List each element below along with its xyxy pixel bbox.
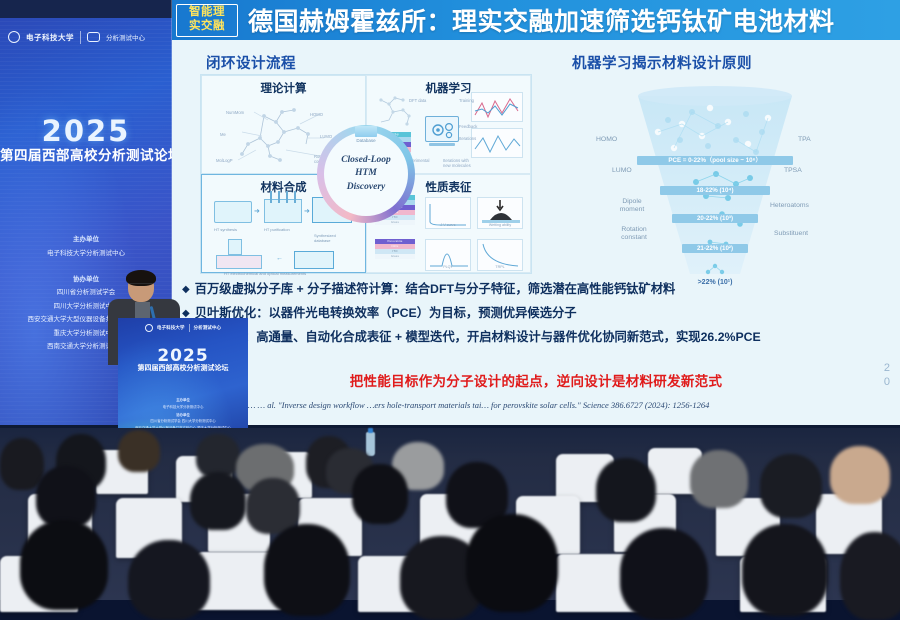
audience-person — [264, 524, 350, 616]
audience-person — [0, 438, 44, 490]
iteration-curve-icon — [472, 129, 524, 159]
bullet-item-1: ◆ 百万级虚拟分子库 + 分子描述符计算：结合DFT与分子特征，筛选潜在高性能钙… — [182, 282, 888, 297]
podium-logo-divider — [189, 324, 190, 332]
funnel-label-dipole-moment: Dipole moment — [612, 198, 652, 215]
arrow-measurement-flow: ← — [276, 255, 283, 262]
audience-person — [352, 464, 408, 524]
well-plate — [216, 255, 262, 269]
badge-line-2: 实交融 — [189, 20, 225, 34]
bullet-diamond-icon-1: ◆ — [182, 282, 190, 297]
purification-tube-2 — [278, 191, 280, 203]
funnel-label-rotation-constant: Rotation constant — [612, 226, 656, 243]
audience-person — [840, 532, 900, 620]
ml-model-icon — [425, 116, 459, 142]
banner-logo-university: 电子科技大学 — [26, 32, 74, 43]
loop-line-2: HTM — [341, 167, 391, 180]
funnel-band-18-22: 18-22% (10⁴) — [660, 186, 770, 195]
heading-ml-design-principles: 机器学习揭示材料设计原则 — [572, 52, 752, 73]
funnel-label-substituent: Substituent — [774, 230, 808, 238]
host-heading: 主办单位 — [0, 233, 172, 243]
gear-neural-icon — [426, 117, 460, 143]
banner-forum-name: 第四届西部高校分析测试论坛 — [0, 144, 172, 164]
caption-synthesized-database: Synthesized database — [314, 233, 346, 243]
audience-person — [128, 540, 210, 620]
ml-training-plot — [471, 92, 523, 122]
purification-tube-4 — [294, 191, 296, 203]
training-curve-icon — [472, 93, 524, 123]
ml-label-training: Training — [459, 98, 474, 103]
slide-citation: …nch… … al. "Inverse design workflow …er… — [228, 400, 872, 410]
conference-room-scene: 电子科技大学 分析测试中心 2025 第四届西部高校分析测试论坛 主办单位 电子… — [0, 0, 900, 600]
banner-logo-center: 分析测试中心 — [106, 32, 145, 42]
slide-title: 德国赫姆霍兹所：理实交融加速筛选钙钛矿电池材料 — [248, 2, 835, 38]
closed-loop-ring: Database Closed-Loop HTM Discovery — [317, 125, 415, 223]
slide-topic-badge: 智能理 实交融 — [176, 4, 238, 37]
arrow-purification-to-database: ➜ — [304, 207, 310, 215]
loop-line-1: Closed-Loop — [341, 154, 391, 167]
caption-ht-measurements: HT electrochemical and optical measureme… — [224, 271, 306, 276]
bullet-text-1: 百万级虚拟分子库 + 分子描述符计算：结合DFT与分子特征，筛选潜在高性能钙钛矿… — [195, 282, 676, 297]
jv-curve-plot: J-V curve — [425, 197, 471, 229]
closed-loop-text: Closed-Loop HTM Discovery — [341, 154, 391, 193]
audience-area — [0, 428, 900, 600]
ml-label-feedback: Feedback — [459, 124, 477, 129]
slide-page-number: 2 0 — [884, 362, 890, 390]
theory-label-mollogp: MolLogP — [216, 158, 233, 163]
funnel-label-homo: HOMO — [596, 136, 617, 144]
ml-model-base — [429, 143, 455, 146]
podium-logo-center: 分析测试中心 — [194, 325, 222, 331]
podium-university-seal-icon — [145, 324, 153, 332]
ml-iteration-plot — [471, 128, 523, 158]
projection-screen: 智能理 实交融 德国赫姆霍兹所：理实交融加速筛选钙钛矿电池材料 闭环设计流程 机… — [172, 0, 900, 425]
banner-year: 2025 — [0, 114, 172, 148]
banner-logo-row: 电子科技大学 分析测试中心 — [8, 28, 164, 46]
slide-header-bar: 智能理 实交融 德国赫姆霍兹所：理实交融加速筛选钙钛矿电池材料 — [172, 0, 900, 40]
char2-layer-glass: Glass — [375, 254, 415, 259]
ml-label-iterations: Iterations — [459, 136, 476, 141]
plqy-plot: PLQY — [425, 239, 471, 271]
theory-label-homo: HOMO — [310, 112, 323, 117]
wall-upper-left — [0, 0, 172, 18]
theory-label-me: Me — [220, 132, 226, 137]
heading-closed-loop-workflow: 闭环设计流程 — [206, 52, 296, 73]
funnel-label-tpa: TPA — [798, 136, 811, 144]
podium-logo-university: 电子科技大学 — [157, 325, 185, 331]
water-bottle — [366, 432, 375, 456]
database-chip-icon — [355, 126, 377, 137]
theory-label-nummom: NumMom — [226, 110, 244, 115]
audience-person — [596, 458, 656, 522]
audience-person — [466, 514, 558, 612]
podium-host-heading: 主办单位 — [118, 397, 248, 402]
caption-wetting-ability: Wetting ability — [478, 223, 522, 227]
bullet-text-3: 闭环迭代：高通量、自动化合成表征 + 模型迭代，开启材料设计与器件优化协同新范式… — [195, 330, 761, 345]
ml-screening-funnel: HOMO TPA LUMO TPSA Dipole moment Heteroa… — [550, 74, 880, 284]
ml-label-new-molecules: Iterations with new molecules — [443, 158, 477, 168]
podium-logo-row: 电子科技大学 分析测试中心 — [118, 324, 248, 332]
funnel-label-lumo: LUMO — [612, 167, 632, 175]
pipette-robot — [228, 239, 242, 255]
caption-ht-purification: HT purification — [264, 227, 290, 232]
char-layer-glass: Glass — [375, 220, 415, 225]
closed-loop-diagram: 理论计算 — [200, 74, 532, 274]
wetting-ability-plot: Wetting ability — [477, 197, 523, 229]
page-number-digit-2: 0 — [884, 376, 890, 390]
slide-bullet-list: ◆ 百万级虚拟分子库 + 分子描述符计算：结合DFT与分子特征，筛选潜在高性能钙… — [182, 282, 888, 354]
slide-conclusion-highlight: 把性能目标作为分子设计的起点，逆向设计是材料研发新范式 — [172, 370, 900, 390]
caption-ht-synthesis: HT synthesis — [214, 227, 237, 232]
arrow-synthesis-to-purification: ➜ — [254, 207, 260, 215]
funnel-label-heteroatoms: Heteroatoms — [770, 202, 809, 210]
audience-person — [36, 466, 96, 528]
purification-tube-1 — [270, 191, 272, 203]
badge-line-1: 智能理 — [189, 6, 225, 20]
funnel-band-20-22: 20-22% (10³) — [672, 214, 758, 223]
audience-person — [742, 524, 828, 616]
measurement-chamber — [294, 251, 334, 269]
bullet-text-2: 贝叶斯优化：以器件光电转换效率（PCE）为目标，预测优异候选分子 — [195, 306, 577, 321]
host-name: 电子科技大学分析测试中心 — [0, 247, 172, 257]
university-seal-icon — [8, 31, 20, 43]
slide-body: 闭环设计流程 机器学习揭示材料设计原则 理论计算 — [172, 40, 900, 425]
bullet-item-3: ◆ 闭环迭代：高通量、自动化合成表征 + 模型迭代，开启材料设计与器件优化协同新… — [182, 330, 888, 345]
podium-host-name: 电子科技大学分析测试中心 — [118, 404, 248, 409]
quadrant-theory-title: 理论计算 — [202, 80, 365, 96]
ht-synthesis-reactor — [214, 201, 252, 223]
loop-line-3: Discovery — [341, 181, 391, 194]
caption-jv-curve: J-V curve — [426, 223, 470, 227]
ml-label-dft-data: DFT data — [409, 98, 426, 103]
page-number-digit-1: 2 — [884, 362, 890, 376]
database-label: Database — [356, 138, 375, 143]
audience-person — [20, 520, 108, 610]
audience-person — [690, 450, 748, 508]
audience-person — [620, 528, 708, 620]
bullet-item-2: ◆ 贝叶斯优化：以器件光电转换效率（PCE）为目标，预测优异候选分子 — [182, 306, 888, 321]
theory-label-lumo: LUMO — [320, 134, 332, 139]
caption-trpl: TRPL — [478, 265, 522, 269]
audience-person — [118, 430, 160, 472]
speaker-glasses-icon — [129, 283, 153, 288]
funnel-band-pool: PCE = 0-22%（pool size ~ 10⁶） — [637, 156, 793, 165]
audience-person — [830, 446, 890, 504]
logo-divider — [80, 31, 81, 44]
atc-logo-icon — [87, 32, 100, 42]
funnel-label-tpsa: TPSA — [784, 167, 802, 175]
purification-tube-3 — [286, 191, 288, 203]
caption-plqy: PLQY — [426, 265, 470, 269]
audience-person — [760, 454, 822, 518]
trpl-plot: TRPL — [477, 239, 523, 271]
audience-person — [190, 472, 246, 530]
char-device-stack-bottom: Perovskite NiOx ITO Glass — [375, 239, 415, 259]
podium-forum-name: 第四届西部高校分析测试论坛 — [118, 363, 248, 373]
funnel-band-21-22: 21-22% (10²) — [682, 244, 748, 253]
